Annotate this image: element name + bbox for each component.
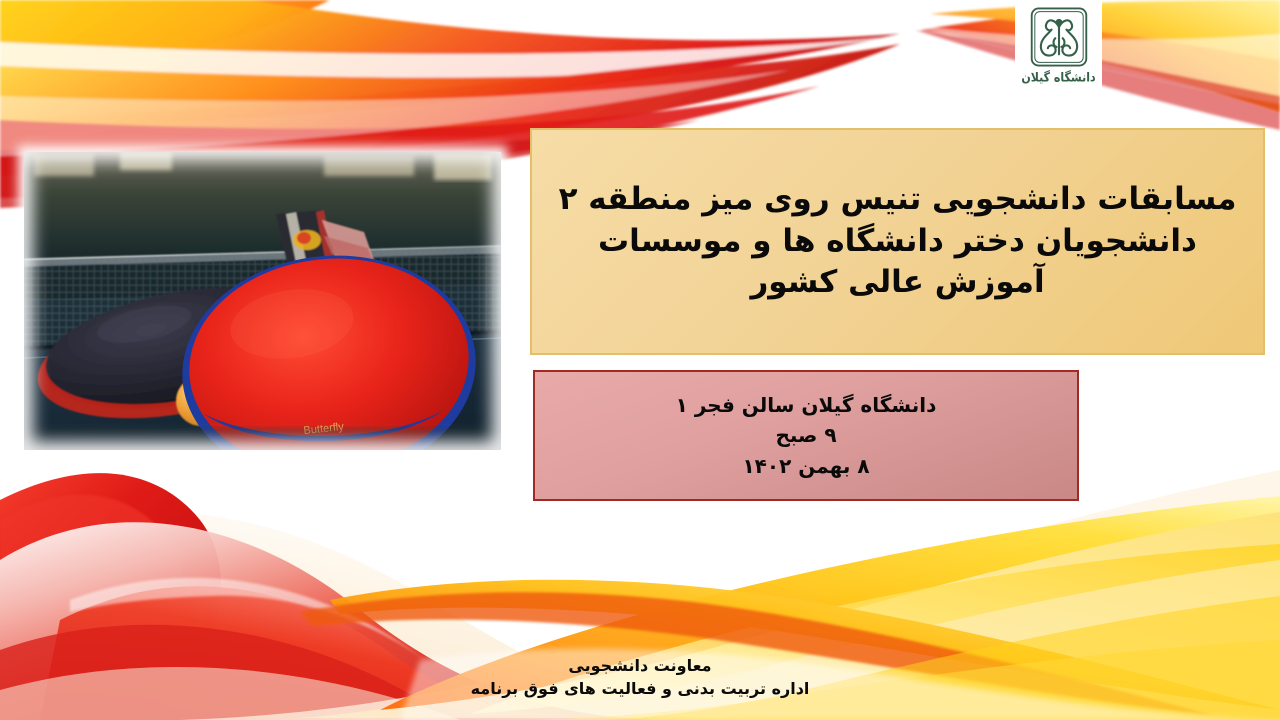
table-tennis-photo-illustration: Butterfly (24, 152, 501, 450)
poster-canvas: Butterfly دانشگاه گیلان (0, 0, 1280, 720)
event-date: ۸ بهمن ۱۴۰۲ (742, 452, 869, 480)
poster-footer: معاونت دانشجویی اداره تربیت بدنی و فعالی… (0, 655, 1280, 699)
logo-caption: دانشگاه گیلان (1021, 70, 1095, 85)
university-of-guilan-emblem-icon (1028, 6, 1090, 68)
poster-title-box: مسابقات دانشجویی تنیس روی میز منطقه ۲ دا… (530, 128, 1265, 355)
footer-line-2: اداره تربیت بدنی و فعالیت های فوق برنامه (471, 678, 810, 700)
table-tennis-photo: Butterfly (24, 152, 501, 450)
event-venue: دانشگاه گیلان سالن فجر ۱ (676, 391, 937, 419)
title-line-2: دانشجویان دختر دانشگاه ها و موسسات (598, 221, 1197, 263)
event-time: ۹ صبح (775, 421, 836, 449)
event-details-box: دانشگاه گیلان سالن فجر ۱ ۹ صبح ۸ بهمن ۱۴… (533, 370, 1079, 501)
title-line-3: آموزش عالی کشور (750, 262, 1044, 304)
footer-line-1: معاونت دانشجویی (568, 655, 711, 677)
university-logo: دانشگاه گیلان (1015, 0, 1102, 108)
title-line-1: مسابقات دانشجویی تنیس روی میز منطقه ۲ (559, 179, 1237, 221)
